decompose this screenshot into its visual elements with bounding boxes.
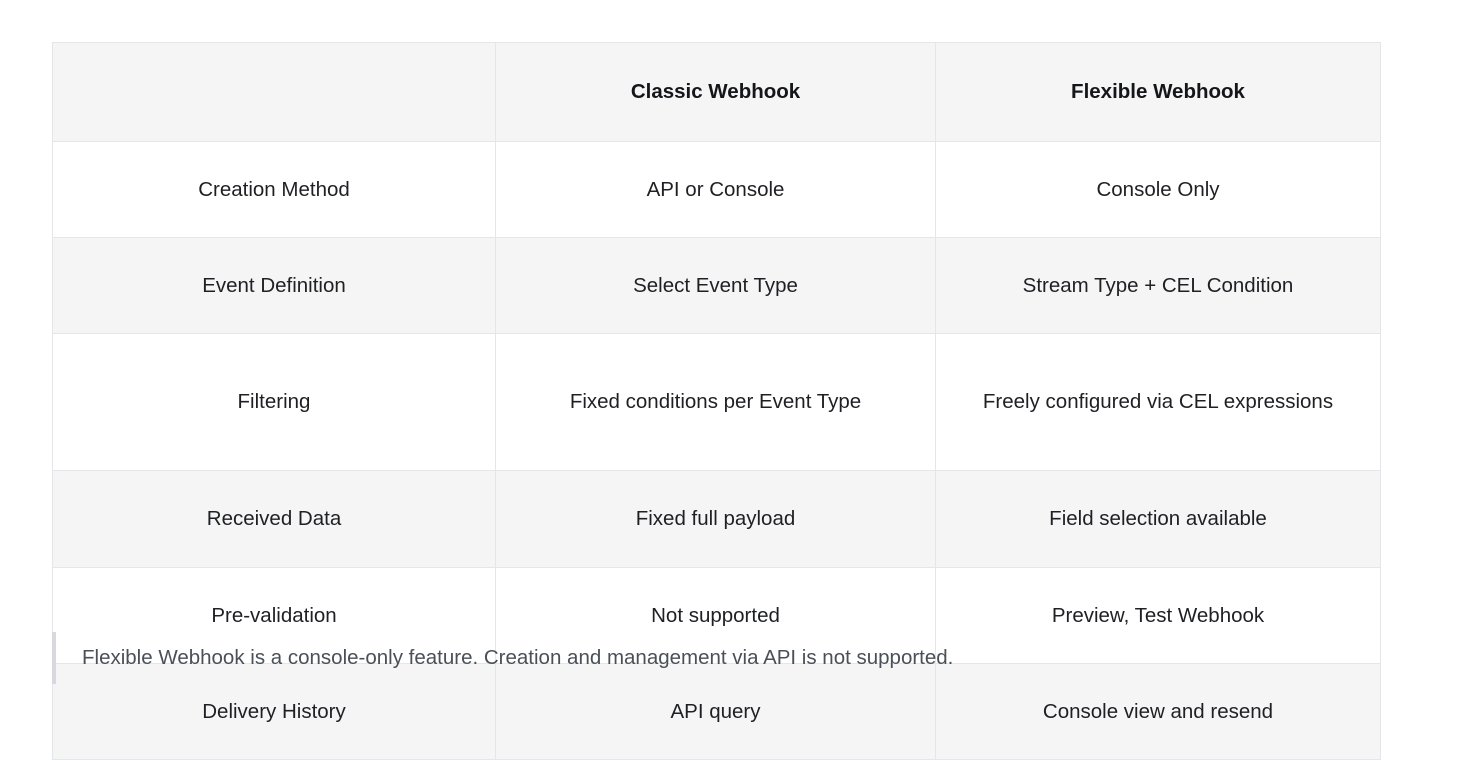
cell-classic-value: Fixed conditions per Event Type — [496, 334, 936, 471]
table-header: Classic Webhook Flexible Webhook — [53, 43, 1381, 142]
table-row: Received Data Fixed full payload Field s… — [53, 471, 1381, 568]
table-row: Creation Method API or Console Console O… — [53, 142, 1381, 238]
cell-feature-name: Filtering — [53, 334, 496, 471]
callout-note: Flexible Webhook is a console-only featu… — [52, 632, 1382, 684]
cell-feature-name: Event Definition — [53, 238, 496, 334]
column-header-classic-webhook: Classic Webhook — [496, 43, 936, 142]
cell-feature-name: Creation Method — [53, 142, 496, 238]
cell-feature-name: Received Data — [53, 471, 496, 568]
document-page: Classic Webhook Flexible Webhook Creatio… — [0, 0, 1458, 706]
callout-note-text: Flexible Webhook is a console-only featu… — [56, 632, 953, 684]
column-header-feature — [53, 43, 496, 142]
table-row: Filtering Fixed conditions per Event Typ… — [53, 334, 1381, 471]
cell-flexible-value: Stream Type + CEL Condition — [936, 238, 1381, 334]
cell-classic-value: Select Event Type — [496, 238, 936, 334]
table-row: Event Definition Select Event Type Strea… — [53, 238, 1381, 334]
cell-flexible-value: Freely configured via CEL expressions — [936, 334, 1381, 471]
cell-classic-value: API or Console — [496, 142, 936, 238]
table-header-row: Classic Webhook Flexible Webhook — [53, 43, 1381, 142]
cell-flexible-value: Console Only — [936, 142, 1381, 238]
cell-flexible-value: Field selection available — [936, 471, 1381, 568]
cell-classic-value: Fixed full payload — [496, 471, 936, 568]
column-header-flexible-webhook: Flexible Webhook — [936, 43, 1381, 142]
